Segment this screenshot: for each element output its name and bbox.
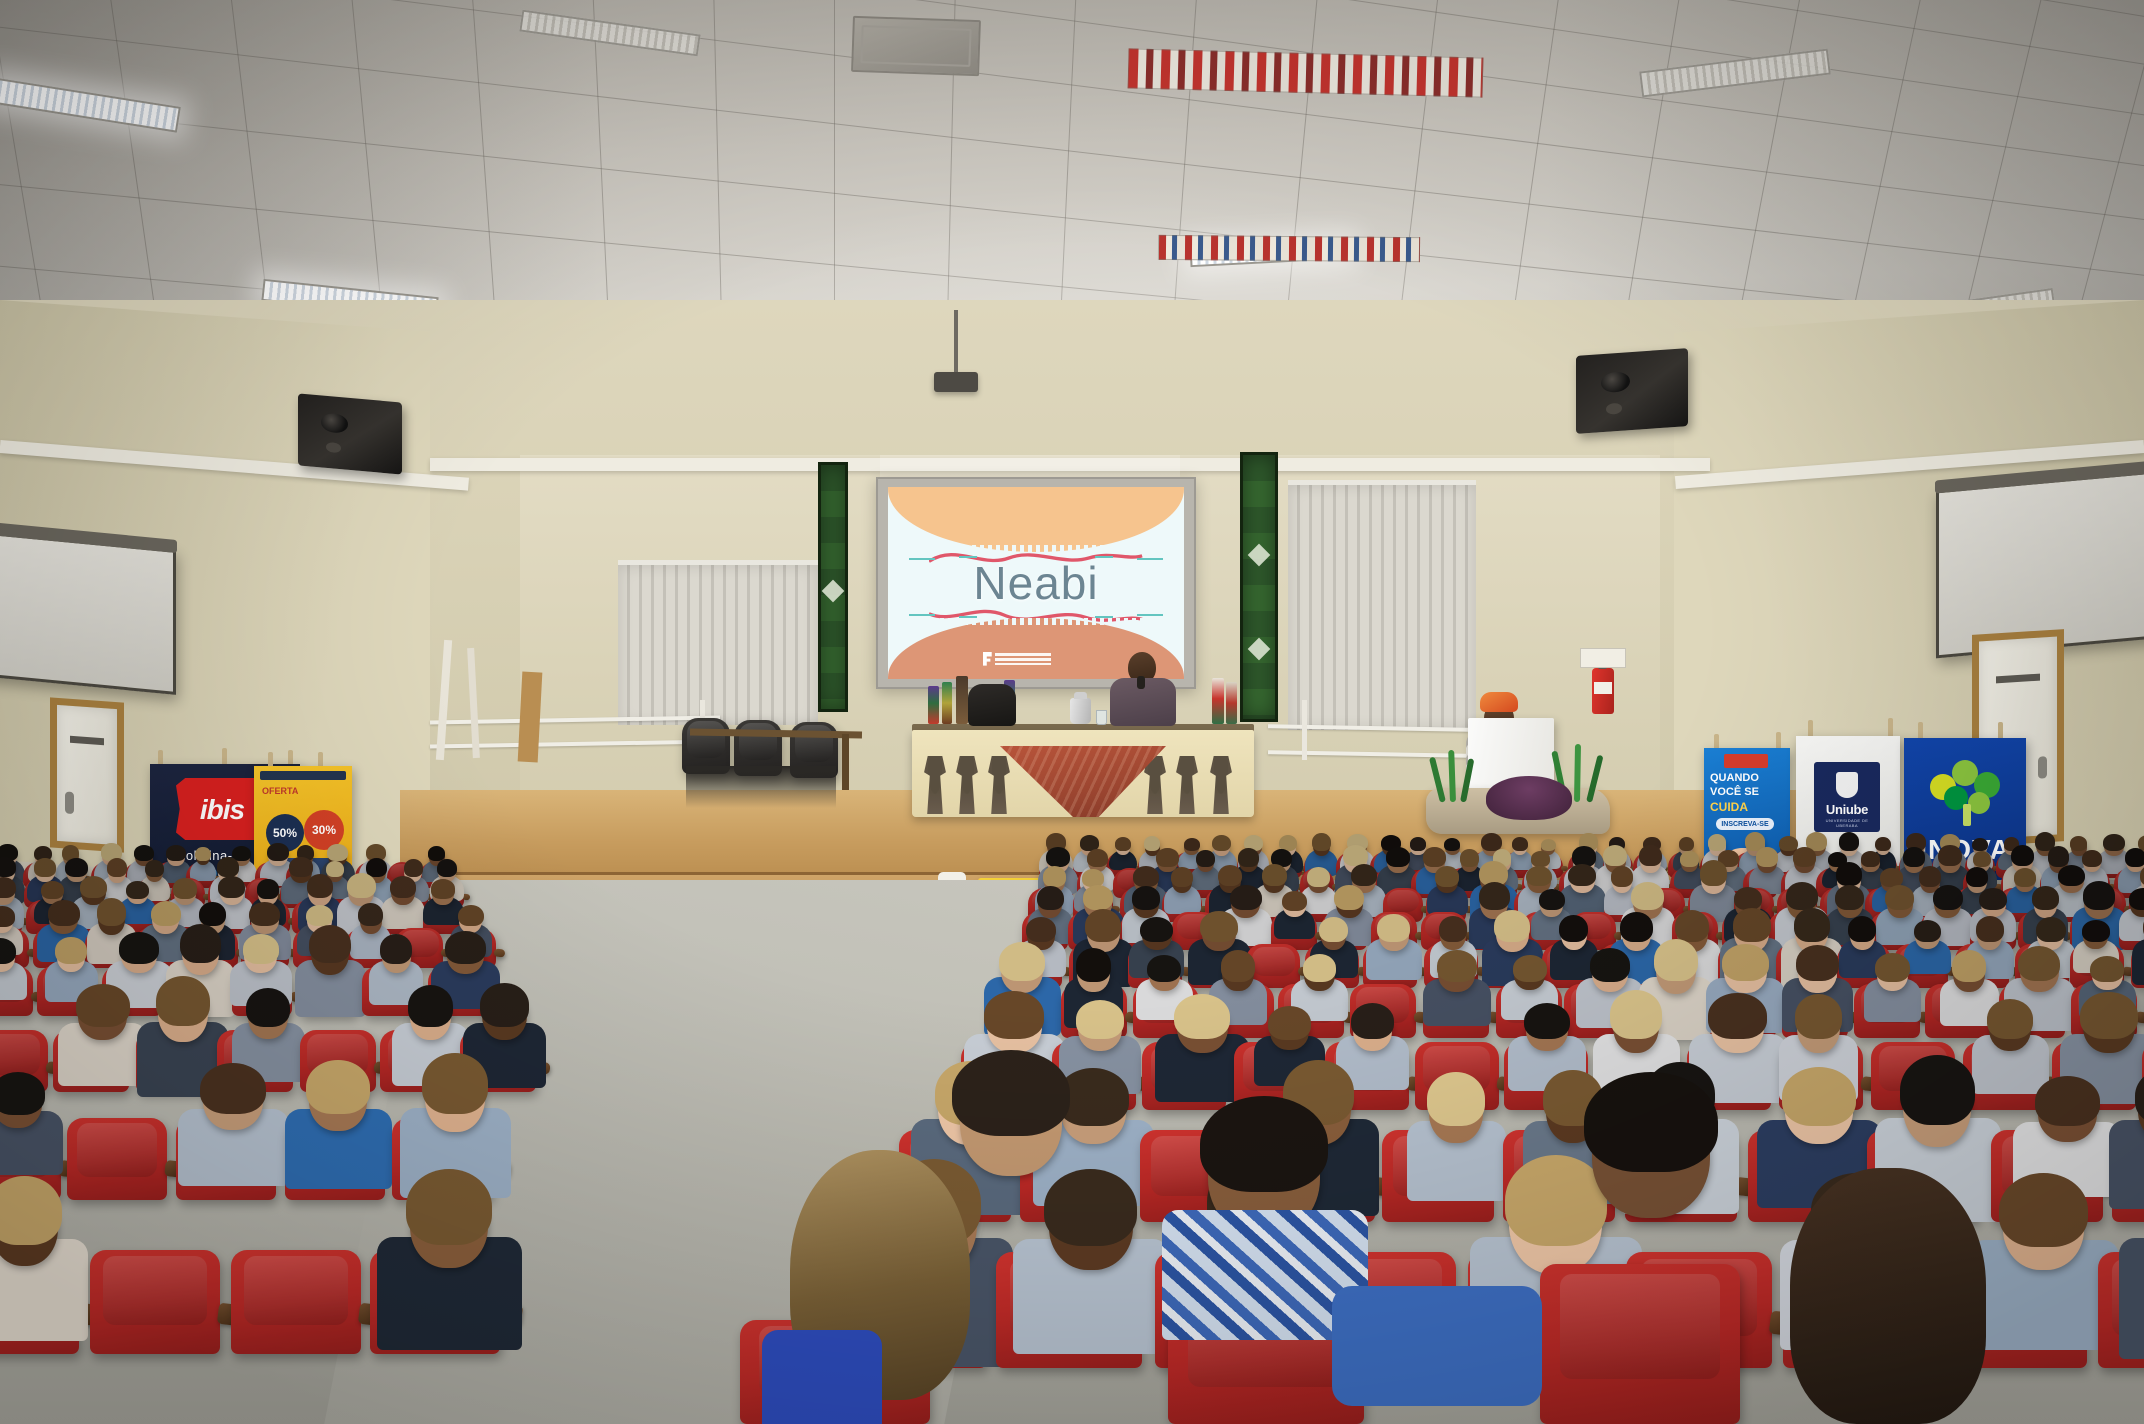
audience-member-hair [1230, 885, 1262, 910]
audience-member-hair [1639, 845, 1662, 866]
audience-member-hair [200, 1063, 266, 1115]
audience-member-hair [1410, 837, 1427, 851]
audience-member-hair [1319, 917, 1347, 943]
audience-member-hair [2035, 1076, 2100, 1127]
audience-member-hair [1795, 994, 1842, 1038]
audience-member-hair [1076, 948, 1111, 982]
audience-member-hair [55, 937, 87, 964]
audience-member-hair [1611, 866, 1633, 887]
audience-member-hair [1044, 1169, 1137, 1246]
audience-member-hair [1343, 845, 1368, 866]
auditorium-seat[interactable] [90, 1250, 220, 1354]
audience-member-hair [0, 906, 15, 926]
audience-member-hair [1603, 845, 1627, 867]
audience-member-hair [1880, 868, 1903, 886]
audience-member-hair [1132, 886, 1160, 910]
audience-member-hair [1026, 917, 1056, 942]
audience-member-hair [1839, 832, 1859, 851]
audience-member-hair [65, 858, 87, 877]
auditorium-photo: Neabi [0, 0, 2144, 1424]
audience-member-hair [2082, 850, 2102, 867]
audience-member-hair [41, 881, 63, 899]
audience-member-hair [327, 844, 348, 861]
audience-member-hair [1875, 953, 1909, 982]
audience-member-hair [2014, 868, 2037, 887]
audience-member-hair [1861, 851, 1881, 867]
audience-member-hair [404, 859, 423, 877]
audience-member-hair [1133, 866, 1159, 887]
audience-member-hair [1987, 999, 2033, 1039]
audience-member-hair [48, 900, 80, 926]
audience-member-hair [1140, 917, 1173, 943]
audience-member-hair [1196, 850, 1214, 867]
audience-member-hair [431, 879, 456, 898]
audience-member-hair [1952, 950, 1987, 982]
audience-member-hair [217, 857, 239, 876]
audience-member-hair [156, 976, 210, 1027]
audience-member-hair [126, 881, 149, 899]
audience-member-hair [406, 1169, 492, 1245]
audience-member-hair [1082, 869, 1105, 887]
audience-member-hair [145, 860, 164, 877]
audience-member-hair [408, 985, 454, 1027]
audience-member-hair [1796, 945, 1839, 981]
audience-member-hair [1479, 882, 1510, 910]
audience-member-hair [2011, 845, 2034, 866]
audience-member-hair [1976, 916, 2004, 942]
audience-member-hair [1938, 845, 1961, 866]
audience-member-hair [326, 861, 344, 877]
audience-member-hair [1885, 885, 1914, 910]
audience-member-hair [1794, 908, 1830, 942]
audience-member-hair [1221, 950, 1256, 981]
foreground-person-torso [1332, 1286, 1542, 1406]
audience-member-hair [1238, 848, 1259, 867]
audience-member-hair [243, 934, 280, 964]
audience-member-hair [1437, 950, 1477, 982]
audience-member-hair [80, 876, 107, 898]
foreground-person-torso [762, 1330, 882, 1424]
audience-member-hair [2090, 956, 2124, 982]
audience-member-hair [76, 984, 130, 1027]
audience-member-hair [195, 847, 211, 861]
audience-member-hair [984, 991, 1044, 1039]
audience-member-hair [1875, 837, 1891, 851]
audience-member-hair [1610, 990, 1661, 1038]
audience-member-hair [107, 858, 127, 877]
audience-member-hair [0, 1072, 45, 1115]
audience-member-hair [1303, 954, 1337, 982]
audience-member-hair [1435, 866, 1459, 886]
audience-member-torso [2109, 1120, 2144, 1209]
audience-member-hair [1620, 912, 1653, 942]
audience-member-hair [1076, 1000, 1125, 1039]
audience-member-hair [1531, 851, 1550, 867]
foreground-person-hair [1790, 1168, 1986, 1424]
audience-member-hair [1085, 909, 1121, 942]
audience-member-hair [1423, 847, 1446, 867]
audience-member-hair [2048, 846, 2069, 866]
audience-member-hair [1212, 835, 1231, 851]
audience-member-hair [1903, 847, 1925, 867]
audience-member-hair [1848, 916, 1876, 942]
audience-member-hair [1046, 847, 1070, 867]
audience-member-hair [1083, 885, 1113, 910]
audience-member-hair [1115, 837, 1131, 851]
audience-member-hair [1680, 851, 1699, 867]
audience-member-hair [289, 857, 313, 877]
audience-member-hair [2083, 881, 2116, 910]
auditorium-seat[interactable] [1540, 1264, 1740, 1424]
audience-member-torso [2132, 939, 2144, 985]
foreground-person-hair [952, 1050, 1070, 1136]
audience-member-hair [199, 902, 225, 926]
audience-member-hair [1312, 833, 1331, 851]
audience-member-hair [1786, 882, 1818, 910]
audience-member-hair [1377, 914, 1410, 942]
audience-member-hair [119, 932, 159, 963]
audience-member-hair [366, 858, 387, 877]
audience-member-hair [2032, 886, 2058, 910]
audience-member-hair [0, 1176, 62, 1245]
foreground-person-hair [1584, 1072, 1718, 1172]
audience-member-hair [445, 931, 486, 963]
audience-member-hair [480, 983, 529, 1027]
audience-member-hair [1835, 885, 1864, 910]
audience-member-hair [1782, 1067, 1856, 1126]
audience-member-hair [1914, 920, 1942, 943]
audience-member-hair [1200, 911, 1238, 942]
audience-member-hair [1679, 837, 1694, 851]
audience-member-hair [1087, 849, 1108, 867]
audience-member-hair [1439, 916, 1467, 942]
audience-member-hair [309, 925, 352, 964]
audience-member-hair [166, 845, 186, 861]
audience-member-hair [999, 942, 1045, 981]
audience-member-hair [422, 1053, 488, 1114]
audience-member-hair [1836, 862, 1863, 886]
audience-member-hair [173, 878, 197, 898]
audience-member-hair [2080, 992, 2138, 1039]
audience-member-hair [267, 843, 289, 861]
audience-member-hair [1999, 1173, 2088, 1247]
audience-member-hair [1282, 891, 1307, 911]
audience-member-hair [2103, 834, 2125, 851]
audience-member-hair [2125, 848, 2144, 867]
audience-member-hair [2070, 836, 2087, 851]
audience-member-hair [246, 988, 290, 1027]
audience-member-hair [1184, 838, 1200, 851]
audience-member-hair [1972, 838, 1988, 851]
audience-member-hair [1427, 1072, 1486, 1126]
audience-member-hair [1144, 836, 1160, 851]
audience-member-hair [1675, 910, 1709, 942]
audience-member-hair [1218, 865, 1242, 887]
audience-member-hair [307, 874, 333, 898]
audience-member-hair [1171, 867, 1193, 887]
audience-member-hair [1756, 847, 1778, 866]
audience-member-hair [358, 903, 382, 926]
audience-member-hair [1460, 849, 1479, 866]
audience-member-hair [1481, 833, 1502, 851]
audience-member-hair [1037, 886, 1064, 911]
audience-member-hair [1733, 908, 1771, 942]
foreground-person-hair [1200, 1096, 1328, 1192]
seat-armrest [494, 948, 506, 957]
audience-member-hair [1590, 948, 1630, 981]
audience-member-hair [1147, 955, 1181, 983]
audience-member-hair [1734, 887, 1762, 910]
audience-member-hair [1505, 1155, 1607, 1246]
audience-member-hair [218, 876, 245, 898]
audience-member-hair [1444, 838, 1460, 851]
audience-member-hair [1966, 867, 1988, 887]
audience-member-hair [380, 934, 412, 964]
audience-member-hair [1973, 851, 1991, 867]
auditorium-seat[interactable] [67, 1118, 167, 1200]
audience-member-hair [1933, 885, 1962, 911]
audience-member-hair [2018, 946, 2060, 982]
audience-member-hair [1307, 867, 1330, 887]
audience-member-hair [2082, 920, 2109, 942]
auditorium-seat[interactable] [231, 1250, 361, 1354]
audience-member-hair [1156, 848, 1178, 866]
audience-member-hair [1654, 939, 1699, 981]
audience-member-hair [1262, 864, 1287, 886]
audience-member-hair [1793, 847, 1817, 866]
audience-member-hair [1539, 889, 1565, 910]
audience-member-hair [1513, 955, 1547, 982]
audience-member-hair [1351, 864, 1377, 886]
audience-member-hair [1631, 882, 1664, 910]
audience-member-hair [1779, 836, 1798, 851]
audience-member-hair [134, 845, 154, 861]
audience-member-hair [180, 924, 221, 963]
audience-member-hair [1268, 1006, 1311, 1039]
audience-member-hair [390, 876, 416, 898]
audience-member-hair [347, 873, 376, 899]
audience-member-hair [437, 859, 457, 877]
audience-member-hair [2036, 917, 2066, 942]
audience-member-hair [1524, 1003, 1570, 1040]
audience-member-hair [1559, 915, 1588, 942]
audience-member-hair [1541, 839, 1556, 852]
audience-member-hair [1708, 993, 1766, 1039]
audience-member-hair [458, 905, 483, 927]
audience-member-hair [151, 901, 181, 927]
audience-member-hair [1334, 885, 1364, 911]
audience-member-hair [1351, 1003, 1394, 1039]
audience-member-hair [1708, 834, 1727, 851]
audience-member-hair [257, 879, 278, 898]
audience-member-hair [1494, 910, 1530, 942]
audience-member-hair [1722, 944, 1769, 981]
audience-member-hair [306, 905, 333, 926]
audience-member-hair [1386, 847, 1410, 866]
audience-member-hair [1700, 860, 1728, 886]
audience-member-hair [1900, 1055, 1975, 1125]
audience-member-hair [1979, 888, 2006, 911]
audience-member-hair [97, 898, 127, 926]
audience-member-hair [1919, 866, 1941, 887]
audience-member-hair [1174, 994, 1230, 1039]
audience-area [0, 0, 2144, 1424]
audience-member-hair [2058, 865, 2085, 887]
audience-member-hair [34, 858, 56, 876]
audience-member-torso [2119, 1238, 2144, 1359]
audience-member-hair [249, 902, 280, 927]
audience-member-hair [1512, 837, 1527, 851]
audience-member-hair [1043, 866, 1066, 887]
audience-member-hair [1526, 866, 1551, 887]
audience-member-hair [306, 1060, 370, 1114]
audience-member-hair [1568, 864, 1596, 886]
